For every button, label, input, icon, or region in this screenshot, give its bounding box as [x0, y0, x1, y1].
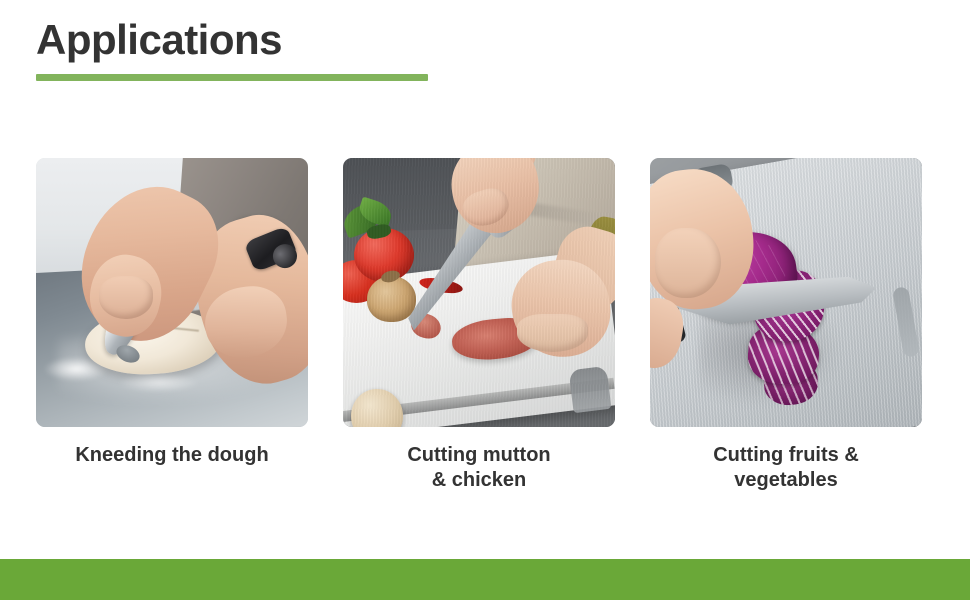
cutting-meat-photo [343, 158, 615, 427]
card-caption-1: Kneeding the dough [75, 443, 268, 468]
photo1-left-fingers [99, 276, 153, 319]
cutting-cabbage-photo [650, 158, 922, 427]
footer-green-band [0, 559, 970, 600]
kneading-dough-photo [36, 158, 308, 427]
application-card-3: Cutting fruits & vegetables [650, 158, 922, 493]
title-underline-rule [36, 74, 428, 81]
application-card-2: Cutting mutton & chicken [343, 158, 615, 493]
application-card-1: Kneeding the dough [36, 158, 308, 493]
header: Applications [36, 14, 428, 81]
application-cards: Kneeding the dough [36, 158, 922, 493]
photo1-flour-dust-front [118, 373, 200, 392]
page-title: Applications [36, 14, 428, 66]
applications-slide: Applications [0, 0, 970, 600]
card-caption-3: Cutting fruits & vegetables [713, 443, 859, 493]
card-caption-2: Cutting mutton & chicken [407, 443, 550, 493]
photo3-fingers [655, 228, 720, 298]
photo2-surface-grain [343, 158, 615, 427]
